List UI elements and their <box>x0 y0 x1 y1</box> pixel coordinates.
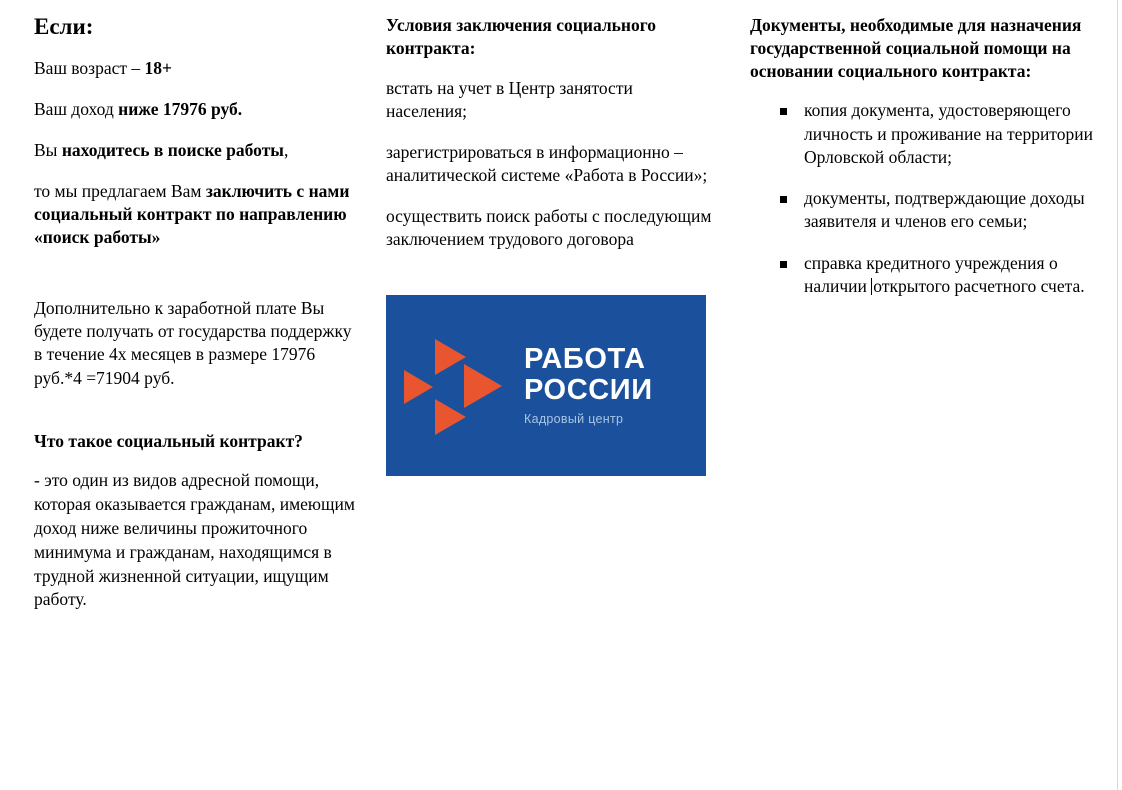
square-bullet-icon <box>780 108 787 115</box>
logo-line-2: РОССИИ <box>524 375 653 406</box>
criterion-job-search-value: находитесь в поиске работы <box>62 140 284 160</box>
column-conditions-left: Если: Ваш возраст – 18+ Ваш доход ниже 1… <box>0 14 380 612</box>
criterion-age-value: 18+ <box>145 58 172 78</box>
condition-item-1: встать на учет в Центр занятости населен… <box>386 77 718 123</box>
triangle-top-icon <box>435 339 466 375</box>
condition-item-3: осуществить поиск работы с последующим з… <box>386 205 718 251</box>
documents-list: копия документа, удостоверяющего личност… <box>750 99 1096 298</box>
rabota-rossii-logo-block: РАБОТА РОССИИ Кадровый центр <box>386 295 718 476</box>
criterion-job-search-suffix: , <box>284 140 288 160</box>
rabota-rossii-pinwheel-icon <box>408 340 504 432</box>
spacer-before-definition <box>34 408 358 430</box>
criterion-income: Ваш доход ниже 17976 руб. <box>34 98 358 121</box>
column-conditions-middle: Условия заключения социального контракта… <box>380 14 742 476</box>
list-item: справка кредитного учреждения о наличии … <box>756 252 1096 299</box>
square-bullet-icon <box>780 196 787 203</box>
square-bullet-icon <box>780 261 787 268</box>
definition-heading: Что такое социальный контракт? <box>34 430 358 453</box>
triangle-bottom-icon <box>435 399 466 435</box>
list-item: документы, подтверждающие доходы заявите… <box>756 187 1096 234</box>
logo-subtitle: Кадровый центр <box>524 413 653 427</box>
criterion-age-prefix: Ваш возраст – <box>34 58 145 78</box>
criterion-income-prefix: Ваш доход <box>34 99 118 119</box>
document-item-text-after-caret: открытого расчетного счета. <box>873 276 1084 296</box>
offer-statement: то мы предлагаем Вам заключить с нами со… <box>34 180 358 249</box>
condition-item-2: зарегистрироваться в информационно – ана… <box>386 141 718 187</box>
documents-heading: Документы, необходимые для назначения го… <box>750 14 1096 82</box>
rabota-rossii-logo-text: РАБОТА РОССИИ Кадровый центр <box>524 344 653 427</box>
page-edge-rule <box>1117 0 1118 790</box>
criterion-age: Ваш возраст – 18+ <box>34 57 358 80</box>
offer-statement-prefix: то мы предлагаем Вам <box>34 181 206 201</box>
rabota-rossii-logo-card: РАБОТА РОССИИ Кадровый центр <box>386 295 706 476</box>
document-item-text: документы, подтверждающие доходы заявите… <box>804 188 1085 231</box>
list-item: копия документа, удостоверяющего личност… <box>756 99 1096 169</box>
support-payment-paragraph: Дополнительно к заработной плате Вы буде… <box>34 297 358 389</box>
triangle-left-icon <box>404 370 433 404</box>
document-page: Если: Ваш возраст – 18+ Ваш доход ниже 1… <box>0 0 1122 790</box>
column-documents-right: Документы, необходимые для назначения го… <box>742 14 1122 316</box>
criterion-job-search: Вы находитесь в поиске работы, <box>34 139 358 162</box>
criterion-job-search-prefix: Вы <box>34 140 62 160</box>
page-title: Если: <box>34 14 358 41</box>
criterion-income-value: ниже 17976 руб. <box>118 99 242 119</box>
definition-body: - это один из видов адресной помощи, кот… <box>34 469 358 612</box>
document-item-text: копия документа, удостоверяющего личност… <box>804 100 1093 167</box>
triangle-right-icon <box>464 364 502 408</box>
conditions-heading: Условия заключения социального контракта… <box>386 14 718 60</box>
logo-line-1: РАБОТА <box>524 344 653 375</box>
spacer-after-offer <box>34 267 358 297</box>
